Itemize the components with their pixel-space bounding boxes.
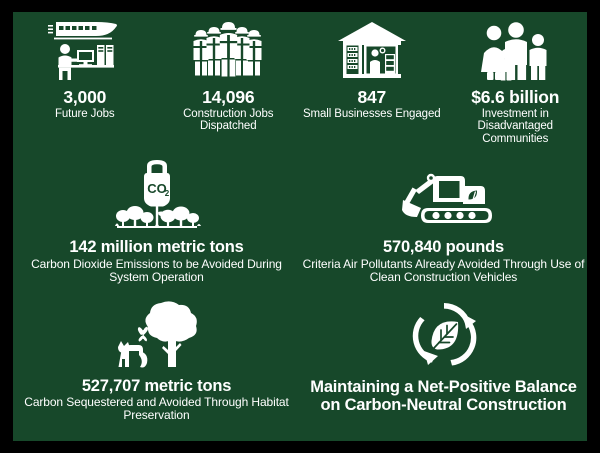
- stat-caption: Investment in Disadvantaged Communities: [444, 108, 588, 147]
- stat-co2-avoided: CO 2: [13, 160, 300, 284]
- family-icon: [478, 20, 552, 82]
- stat-value: 570,840 pounds: [383, 239, 504, 256]
- stat-caption: Carbon Sequestered and Avoided Through H…: [13, 396, 300, 423]
- stats-row-middle: CO 2: [13, 160, 587, 284]
- infographic-root: 3,000 Future Jobs: [0, 0, 600, 453]
- infographic-panel: 3,000 Future Jobs: [13, 12, 587, 441]
- stats-row-top: 3,000 Future Jobs: [13, 12, 587, 146]
- stat-construction-jobs: 14,096 Construction Jobs Dispatched: [157, 20, 301, 146]
- stat-investment: $6.6 billion Investment in Disadvantaged…: [444, 20, 588, 146]
- stat-caption: Criteria Air Pollutants Already Avoided …: [300, 258, 587, 285]
- stat-carbon-neutral: Maintaining a Net-Positive Balance on Ca…: [300, 299, 587, 423]
- stat-carbon-sequestered: 527,707 metric tons Carbon Sequestered a…: [13, 299, 300, 423]
- stat-caption: Future Jobs: [55, 108, 115, 121]
- co2-trees-icon: CO 2: [109, 160, 205, 232]
- construction-workers-icon: [191, 20, 265, 82]
- clean-excavator-icon: [395, 160, 493, 232]
- stat-value: 14,096: [202, 88, 254, 107]
- stat-caption: Construction Jobs Dispatched: [157, 108, 301, 134]
- stat-value: 527,707 metric tons: [82, 378, 231, 395]
- stat-air-pollutants: 570,840 pounds Criteria Air Pollutants A…: [300, 160, 587, 284]
- stat-small-businesses: 847 Small Businesses Engaged: [300, 20, 444, 146]
- tree-wildlife-icon: [109, 299, 205, 371]
- svg-text:2: 2: [164, 189, 169, 198]
- stat-caption: Carbon Dioxide Emissions to be Avoided D…: [13, 258, 300, 285]
- stat-value: 142 million metric tons: [69, 239, 243, 256]
- recycle-leaf-icon: [408, 299, 480, 371]
- stat-future-jobs: 3,000 Future Jobs: [13, 20, 157, 146]
- stat-caption: Small Businesses Engaged: [303, 108, 441, 121]
- stat-headline: Maintaining a Net-Positive Balance on Ca…: [300, 378, 587, 415]
- train-workstation-icon: [46, 20, 124, 82]
- stat-value: $6.6 billion: [471, 88, 559, 107]
- storefront-icon: [336, 20, 408, 82]
- stat-value: 3,000: [63, 88, 106, 107]
- stats-row-bottom: 527,707 metric tons Carbon Sequestered a…: [13, 299, 587, 423]
- stat-value: 847: [357, 88, 386, 107]
